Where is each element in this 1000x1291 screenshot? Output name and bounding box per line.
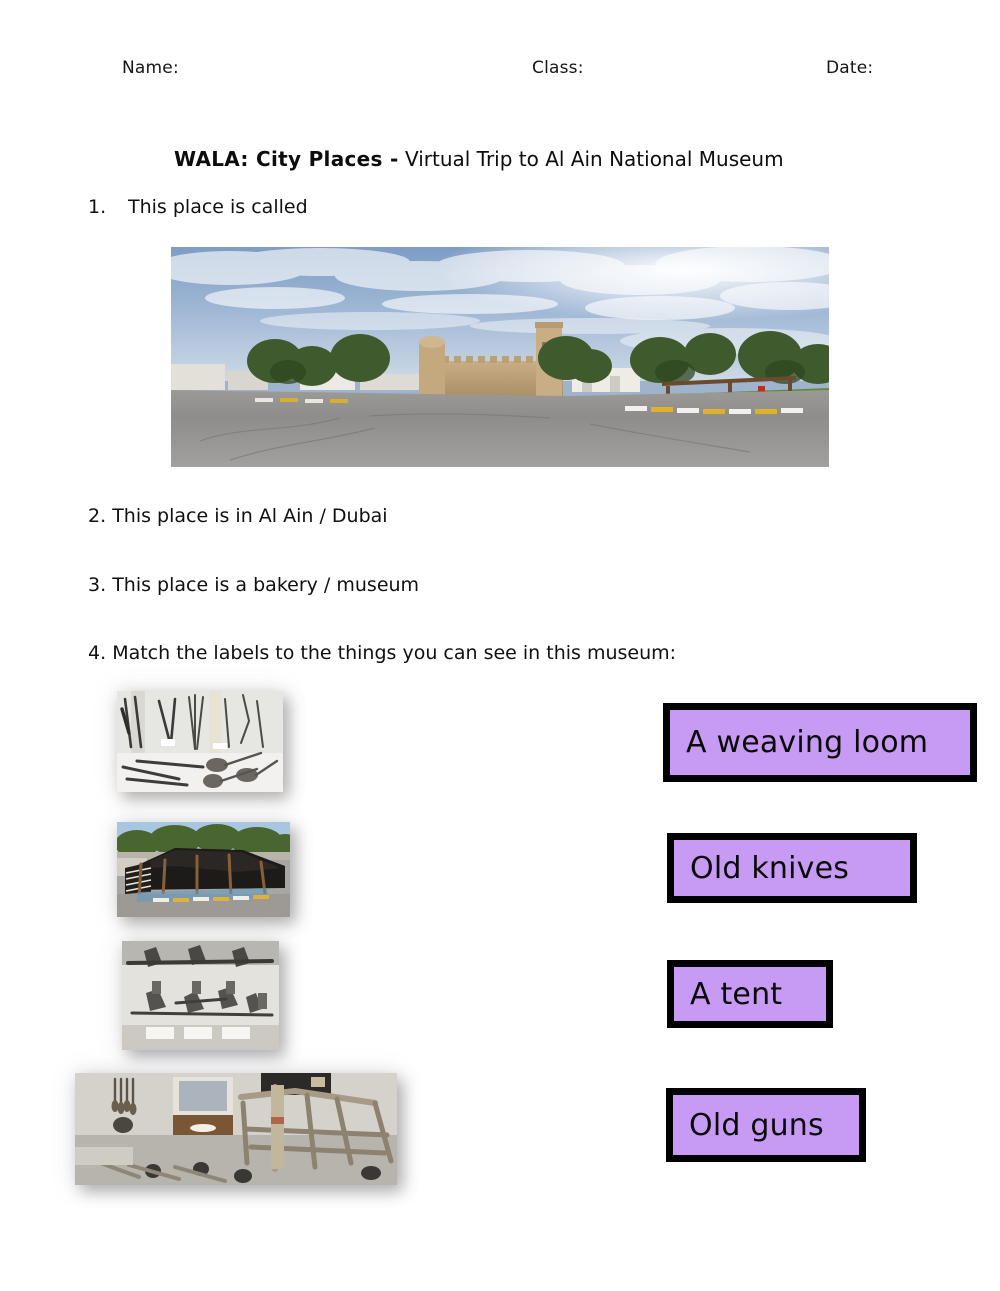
museum-panorama-photo [170, 246, 830, 468]
label-old-guns-text: Old guns [689, 1108, 824, 1143]
question-1: 1.This place is called [88, 196, 308, 218]
label-weaving-loom[interactable]: A weaving loom [663, 703, 977, 782]
tent-photo [117, 822, 290, 917]
question-1-number: 1. [88, 196, 128, 218]
class-label: Class: [532, 58, 584, 78]
question-4-body: Match the labels to the things you can s… [112, 642, 676, 664]
label-a-tent-text: A tent [690, 977, 782, 1012]
tent-illustration [117, 822, 290, 917]
worksheet-page: Name: Class: Date: WALA: City Places - V… [0, 0, 1000, 1291]
old-knives-photo [122, 941, 279, 1050]
old-knives-illustration [122, 941, 279, 1050]
name-label: Name: [122, 58, 179, 78]
question-3-number: 3. [88, 574, 106, 596]
label-weaving-loom-text: A weaving loom [686, 725, 928, 760]
weaving-loom-photo [75, 1073, 397, 1185]
question-2-text: 2. [88, 505, 106, 527]
page-title: WALA: City Places - Virtual Trip to Al A… [174, 147, 784, 171]
page-title-rest: Virtual Trip to Al Ain National Museum [399, 147, 784, 171]
page-title-bold: WALA: City Places - [174, 147, 399, 171]
question-1-text: This place is called [128, 196, 308, 218]
weaving-loom-illustration [75, 1073, 397, 1185]
question-3: 3. This place is a bakery / museum [88, 574, 419, 596]
label-old-guns[interactable]: Old guns [666, 1088, 866, 1162]
question-2-body: This place is in Al Ain / Dubai [112, 505, 387, 527]
question-2: 2. This place is in Al Ain / Dubai [88, 505, 388, 527]
label-old-knives[interactable]: Old knives [667, 833, 917, 903]
old-guns-photo [117, 691, 283, 792]
label-old-knives-text: Old knives [690, 851, 849, 886]
question-4-number: 4. [88, 642, 106, 664]
header-fields: Name: Class: Date: [122, 58, 882, 86]
panorama-illustration [170, 246, 830, 468]
question-3-body: This place is a bakery / museum [112, 574, 419, 596]
label-a-tent[interactable]: A tent [667, 960, 833, 1028]
date-label: Date: [826, 58, 873, 78]
old-guns-illustration [117, 691, 283, 792]
question-4: 4. Match the labels to the things you ca… [88, 642, 676, 664]
